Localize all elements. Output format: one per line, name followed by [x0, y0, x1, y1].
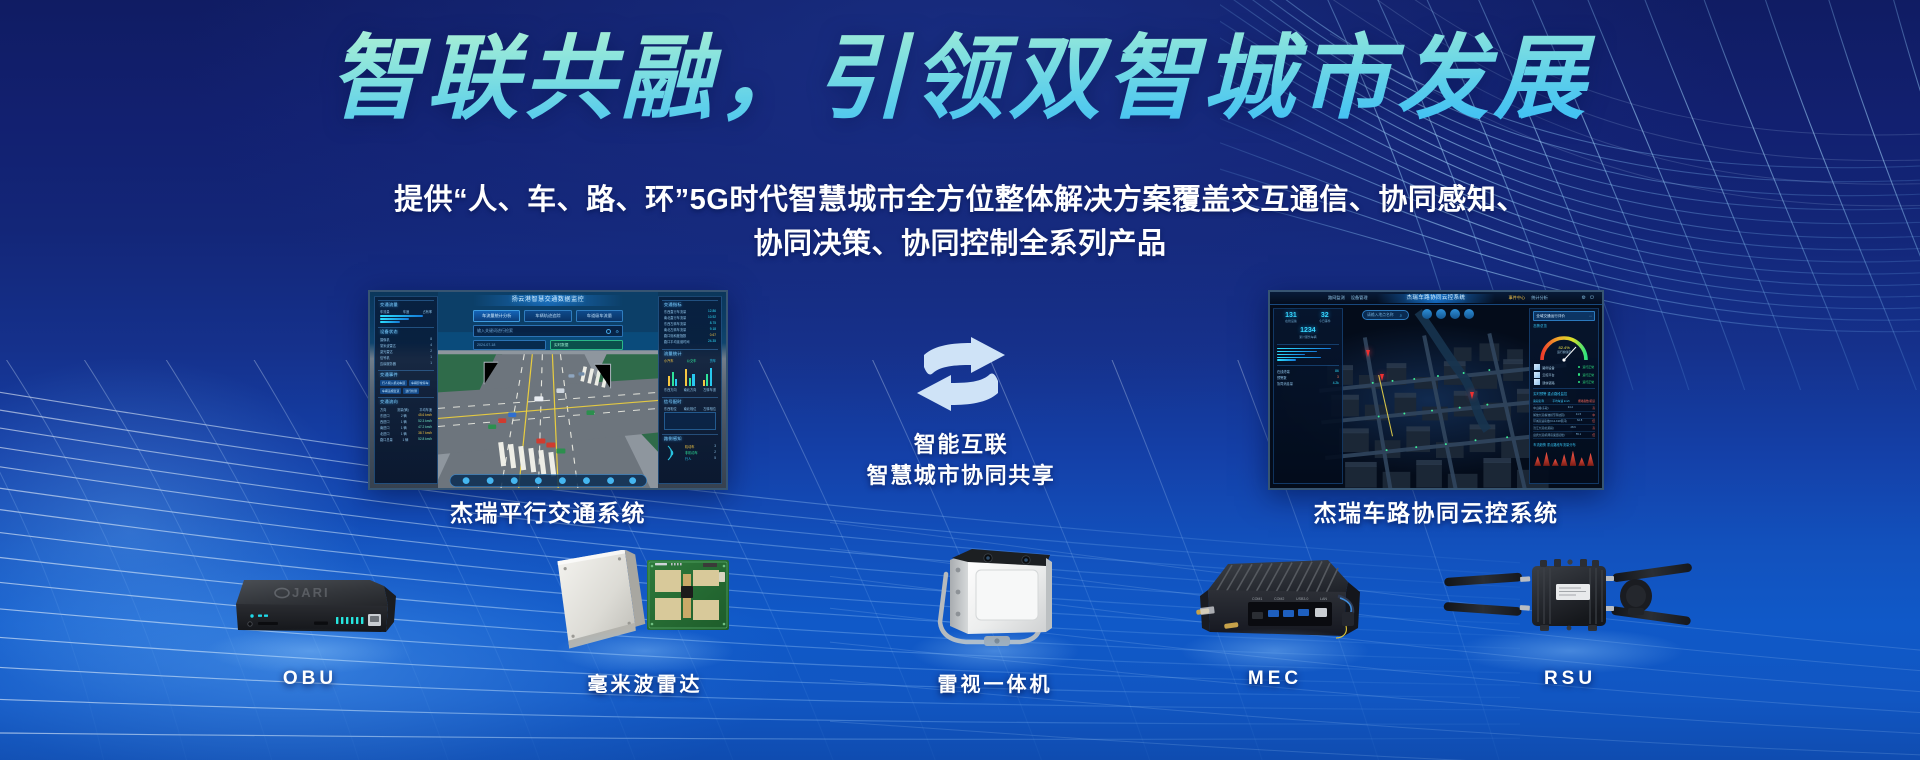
legend-item: 非机动车 [685, 450, 698, 455]
table-row: 路口总量 1 辆 52.8 km/h [380, 437, 432, 442]
map-pin[interactable] [1366, 350, 1370, 357]
radar-vision-camera-icon [870, 556, 1120, 668]
road-icon[interactable] [1450, 309, 1460, 319]
bar-group [685, 366, 694, 386]
legend-item: 行人 [685, 456, 691, 461]
cloud-panel-header: 全域交通运行评价 ⋯ [1533, 311, 1595, 321]
map-pin[interactable] [1380, 374, 1384, 381]
filter-icon[interactable]: ⚙ [615, 329, 619, 334]
cell-flow: 1 辆 [401, 425, 407, 430]
bar [380, 318, 409, 320]
svg-text:USB3.0: USB3.0 [1296, 597, 1308, 601]
gear-icon[interactable]: ⚙ [1582, 295, 1586, 301]
legend-item: 南北相位 [684, 406, 697, 411]
device-row: 激光雷达 2 [380, 349, 432, 354]
alert-table: 路段名称 平均车速 km/h 拥堵指数/延误 中山路(东段) 34.2 高 解放… [1533, 398, 1595, 439]
cloud-right-column: 全域交通运行评价 ⋯ 态势总览 [1529, 308, 1599, 484]
status-state: 运行正常 [1582, 373, 1594, 377]
product-label: 雷视一体机 [870, 668, 1120, 697]
exchange-line-1: 智能互联 [841, 429, 1081, 460]
metric-row: 路口饱和度指数 0.67 [664, 333, 716, 338]
table-row: 南进口 1 辆 47.2 km/h [380, 425, 432, 430]
mmwave-radar-icon [530, 556, 760, 668]
product-label: OBU [200, 668, 420, 690]
device-value: 8 [430, 337, 432, 342]
table-header: 路段名称 平均车速 km/h 拥堵指数/延误 [1533, 398, 1595, 405]
map-pin[interactable] [1470, 392, 1474, 399]
legend-item: 小汽车 [664, 358, 674, 363]
person-icon[interactable] [1422, 309, 1432, 319]
kpi-item: 1234 累计服务车辆 [1299, 327, 1316, 339]
metric-value: 9.18 [710, 327, 716, 332]
table-row: 滨江大道(北延段) 28.6 高 [1533, 425, 1595, 432]
bar-group [703, 366, 712, 386]
cell-index: 低 [1592, 433, 1595, 437]
legend-row: 车流量 车速 占有率 [380, 309, 432, 314]
device-label: 激光雷达 [380, 349, 393, 354]
cell-index: 低 [1592, 419, 1595, 423]
legend-item: 货车 [710, 358, 716, 363]
metric-label: 东西左转车流量 [664, 321, 686, 326]
more-icon[interactable]: ⋯ [1589, 314, 1592, 318]
table-row: 东进口 2 辆 45.6 km/h [380, 413, 432, 418]
panel-title: 全域交通运行评价 [1536, 314, 1565, 319]
cell-speed: 28.6 [1570, 426, 1575, 430]
screenshot-cloud-control-system[interactable]: 杰瑞车路协同云控系统 路网监测 设备管理 事件中心 统计分析 ⚙ ⏻ 请输入地点… [1268, 290, 1604, 490]
dashboard-parallel-traffic: 扬云港智慧交通数据监控 车流量统计分析 车辆轨迹追踪 车道级车流量 输入关键词进… [370, 292, 726, 488]
subtitle-line-1: 提供“人、车、路、环”5G时代智慧城市全方位整体解决方案覆盖交互通信、协同感知、 [250, 178, 1670, 222]
device-row: 边缘服务器 1 [380, 361, 432, 366]
svg-text:COM1: COM1 [1252, 597, 1262, 601]
cell-road: 滨江大道(北延段) [1533, 426, 1554, 430]
table-row: 解放大道(解放桥至科技园) 41.5 中 [1533, 412, 1595, 419]
legend-row: 小汽车 公交车 货车 [664, 358, 716, 363]
card-title: 交通流量 [380, 302, 432, 308]
kpi-value: 1234 [1299, 327, 1316, 334]
col-header: 平均车速 km/h [1552, 399, 1569, 403]
table-row: 迎宾大道(机场高速连接线) 55.1 低 [1533, 432, 1595, 439]
status-dot [1578, 366, 1580, 368]
dashboard-search-input[interactable]: 输入关键词进行检索 [477, 328, 602, 334]
kpi-item: 32 今日事件 [1319, 312, 1331, 324]
cell-speed: 52.8 km/h [418, 437, 432, 442]
metric-label: 路口饱和度指数 [664, 333, 686, 338]
status-dot [1578, 381, 1580, 383]
dashboard-realtime-toggle[interactable]: 实时数据 [550, 340, 623, 350]
product-mec[interactable]: COM1COM2 USB3.0LAN [1160, 556, 1390, 690]
product-obu[interactable]: JARI [200, 556, 420, 690]
metric-value: 12.86 [708, 309, 716, 314]
chart-title: 车流趋势 重点路段车流量分布 [1533, 442, 1595, 447]
health-gauge: 82.4% 运行健康度 [1536, 332, 1592, 362]
metric-label: 路口平均延误时间 [664, 339, 690, 344]
svg-text:COM2: COM2 [1274, 597, 1284, 601]
nav-item[interactable]: 事件中心 [1508, 295, 1525, 301]
legend-item: 左转相位 [703, 406, 716, 411]
caption-parallel-traffic-system: 杰瑞平行交通系统 [338, 494, 758, 528]
card-title: 交通指标 [664, 302, 716, 308]
screenshot-parallel-traffic-system[interactable]: 扬云港智慧交通数据监控 车流量统计分析 车辆轨迹追踪 车道级车流量 输入关键词进… [368, 290, 728, 490]
metric-label: 南北直行车流量 [664, 315, 686, 320]
cell-index: 中 [1592, 413, 1595, 417]
metric-value: 0.67 [710, 333, 716, 338]
svg-text:JARI: JARI [292, 585, 330, 600]
dashboard-tab-2[interactable]: 车道级车流量 [576, 310, 623, 322]
kpi-label: 在线设备 [1285, 319, 1297, 323]
kpi-item: 131 在线设备 [1285, 312, 1297, 324]
metric-row: 东西直行车流量 12.86 [664, 309, 716, 314]
map-search-row[interactable]: 请输入地点名称 ⌕ [1362, 310, 1402, 320]
nav-item[interactable]: 设备管理 [1351, 295, 1368, 301]
device-row: 毫米波雷达 4 [380, 343, 432, 348]
bar [380, 315, 423, 317]
cell-index: 高 [1592, 426, 1595, 430]
cell-dir: 北进口 [380, 431, 390, 436]
metric-value: 8.75 [710, 321, 716, 326]
device-icon[interactable] [1464, 309, 1474, 319]
banner-stage: 智联共融，引领双智城市发展 提供“人、车、路、环”5G时代智慧城市全方位整体解决… [0, 0, 1920, 760]
product-rsu[interactable]: RSU [1440, 556, 1700, 690]
cell-flow: 1 辆 [401, 431, 407, 436]
device-value: 1 [430, 355, 432, 360]
legend-item: 占有率 [423, 309, 433, 314]
cell-speed: 41.5 [1576, 413, 1581, 417]
cell-speed: 62.8 [1577, 419, 1582, 423]
kpi-label: 今日事件 [1319, 319, 1331, 323]
event-chip[interactable]: 车辆异常停车 [409, 380, 430, 386]
flow-spike-chart [1534, 450, 1594, 466]
kpi-value: 131 [1285, 312, 1297, 319]
cell-road: 迎宾大道(机场高速连接线) [1533, 433, 1564, 437]
card-title: 交通事件 [380, 372, 432, 378]
map-quick-icons [1422, 309, 1474, 319]
product-label: RSU [1440, 668, 1700, 690]
status-dot [1578, 373, 1580, 375]
event-chip[interactable]: 车辆违规变道 [380, 388, 401, 394]
card-traffic-metrics: 交通指标 东西直行车流量 12.86 南北直行车流量 10.92 东西左转车流量… [662, 300, 718, 347]
kpi-row-2: 1234 累计服务车辆 [1274, 325, 1342, 341]
cell-speed: 52.3 km/h [418, 419, 432, 424]
exchange-line-2: 智慧城市协同共享 [841, 460, 1081, 491]
city-nav-right: 事件中心 统计分析 [1508, 295, 1548, 301]
cell-speed: 47.2 km/h [418, 425, 432, 430]
device-row: 摄像机 8 [380, 337, 432, 342]
status-state: 运行正常 [1582, 380, 1594, 384]
city-nav-left: 路网监测 设备管理 [1328, 295, 1368, 301]
card-traffic-events: 交通事件 行人闯入机动车道 车辆异常停车 车辆违规变道 逆行检测 [378, 370, 434, 395]
exchange-text: 智能互联 智慧城市协同共享 [841, 429, 1081, 491]
cell-road: 中山路(东段) [1533, 406, 1548, 410]
bidirectional-exchange-arrows-icon [913, 333, 1009, 419]
dashboard-right-column: 交通指标 东西直行车流量 12.86 南北直行车流量 10.92 东西左转车流量… [658, 296, 722, 484]
card-title: 流量统计 [664, 351, 716, 357]
cell-road: 环城高速南线(K12-K18区间) [1533, 419, 1567, 423]
table-row: 环城高速南线(K12-K18区间) 62.8 低 [1533, 419, 1595, 426]
card-traffic-direction: 交通流向 方向 流量(辆) 平均车速 东进口 2 辆 45.6 km/h 西进口… [378, 397, 434, 444]
metric-row: 路口平均延误时间 24.35 [664, 339, 716, 344]
legend-item: 公交车 [687, 358, 697, 363]
table-row: 中山路(东段) 34.2 高 [1533, 405, 1595, 412]
cell-flow: 1 辆 [401, 419, 407, 424]
metric-row: 南北直行车流量 10.92 [664, 315, 716, 320]
card-title: 设备状态 [380, 329, 432, 335]
kpi-value: 32 [1319, 312, 1331, 319]
device-label: 信号机 [380, 355, 390, 360]
cube-icon [1534, 372, 1540, 378]
metric-label: 东西直行车流量 [664, 309, 686, 314]
status-name: 云控平台 [1542, 372, 1576, 377]
city-top-icons: ⚙ ⏻ [1582, 295, 1594, 301]
rsu-antenna-icon [1440, 556, 1700, 668]
dashboard-control-bar: 车流量统计分析 车辆轨迹追踪 车道级车流量 输入关键词进行检索 ⚙ 2024-0… [473, 310, 623, 350]
device-label: 边缘服务器 [380, 361, 396, 366]
card-title: 路侧感知 [664, 436, 716, 442]
kpi-row: 131 在线设备 32 今日事件 [1274, 309, 1342, 325]
device-row: 信号机 1 [380, 355, 432, 360]
status-name: 路侧设备 [1542, 365, 1576, 370]
table-row: 西进口 1 辆 52.3 km/h [380, 419, 432, 424]
legend-item: 车速 [403, 309, 409, 314]
legend-item: 机动车 [685, 444, 695, 449]
status-state: 运行正常 [1582, 365, 1594, 369]
caption-cloud-control-system: 杰瑞车路协同云控系统 [1226, 494, 1646, 528]
metric-row: 东西左转车流量 8.75 [664, 321, 716, 326]
cell-dir: 南进口 [380, 425, 390, 430]
bar [380, 321, 400, 323]
col-header: 平均车速 [419, 407, 432, 412]
card-title: 信号配时 [664, 399, 716, 405]
status-item: 通信链路 运行正常 [1534, 379, 1594, 385]
search-icon[interactable]: ⌕ [1400, 313, 1402, 318]
col-header: 流量(辆) [397, 407, 409, 412]
dashboard-tab-0[interactable]: 车流量统计分析 [473, 310, 520, 322]
subtitle-line-2: 协同决策、协同控制全系列产品 [250, 222, 1670, 266]
bar-group [668, 366, 677, 386]
device-value: 1 [430, 361, 432, 366]
card-title: 交通流向 [380, 399, 432, 405]
status-item: 路侧设备 运行正常 [1534, 364, 1594, 370]
event-chip[interactable]: 行人闯入机动车道 [380, 380, 407, 386]
metric-label: 南北左转车流量 [664, 327, 686, 332]
cell-speed: 34.2 [1568, 406, 1573, 410]
product-row: JARI [0, 556, 1920, 736]
dashboard-left-column: 交通流量 车流量 车速 占有率 设备状态 摄像机 8 [374, 296, 438, 484]
nav-item[interactable]: 路网监测 [1328, 295, 1345, 301]
cell-speed: 45.6 km/h [418, 413, 432, 418]
page-title: 智联共融，引领双智城市发展 [0, 28, 1920, 131]
section-title: 态势总览 [1533, 323, 1595, 328]
cell-dir: 东进口 [380, 413, 390, 418]
group-label: 左转车道 [703, 387, 716, 392]
dashboard-screen-title: 扬云港智慧交通数据监控 [473, 295, 623, 306]
metric-row: 南北左转车流量 9.18 [664, 327, 716, 332]
event-chip[interactable]: 逆行检测 [403, 388, 419, 394]
dashboard-search-row[interactable]: 输入关键词进行检索 ⚙ [473, 325, 623, 337]
cell-dir: 路口总量 [380, 437, 393, 442]
dashboard-cloud-control: 杰瑞车路协同云控系统 路网监测 设备管理 事件中心 统计分析 ⚙ ⏻ 请输入地点… [1270, 292, 1602, 488]
device-label: 摄像机 [380, 337, 390, 342]
cloud-control-screen-title: 杰瑞车路协同云控系统 [1377, 294, 1495, 303]
status-list: 路侧设备 运行正常 云控平台 运行正常 通信链路 运行正常 [1534, 364, 1594, 385]
svg-text:LAN: LAN [1320, 597, 1327, 601]
mec-server-icon: COM1COM2 USB3.0LAN [1160, 556, 1390, 668]
legend-row: 东西相位 南北相位 左转相位 [664, 406, 716, 411]
page-subtitle: 提供“人、车、路、环”5G时代智慧城市全方位整体解决方案覆盖交互通信、协同感知、… [250, 178, 1670, 266]
cube-icon [1534, 364, 1540, 370]
group-label: 南北方向 [684, 387, 697, 392]
cell-speed: 38.7 km/h [418, 431, 432, 436]
signal-timing-chart [664, 412, 716, 430]
card-flow-statistics: 流量统计 小汽车 公交车 货车 [662, 349, 718, 395]
product-mmwave-radar[interactable]: 毫米波雷达 [530, 556, 760, 697]
dashboard-date-field[interactable]: 2024-07-18 [473, 340, 546, 350]
col-header: 路段名称 [1533, 399, 1544, 403]
status-name: 通信链路 [1542, 380, 1576, 385]
card-device-status: 设备状态 摄像机 8 毫米波雷达 4 激光雷达 2 信号机 [378, 327, 434, 368]
status-item: 云控平台 运行正常 [1534, 372, 1594, 378]
exchange-block: 智能互联 智慧城市协同共享 [841, 333, 1081, 491]
metric-value: 24.35 [708, 339, 716, 344]
gauge-label: 运行健康度 [1536, 350, 1592, 354]
cell-flow: 1 辆 [402, 437, 408, 442]
legend-item: 东西相位 [664, 406, 677, 411]
device-label: 毫米波雷达 [380, 343, 396, 348]
cell-dir: 西进口 [380, 419, 390, 424]
device-value: 2 [430, 349, 432, 354]
table-row: 北进口 1 辆 38.7 km/h [380, 431, 432, 436]
dashboard-tab-1[interactable]: 车辆轨迹追踪 [524, 310, 571, 322]
group-labels: 东西方向 南北方向 左转车道 [664, 387, 716, 392]
cell-index: 高 [1592, 406, 1595, 410]
cloud-left-column: 131 在线设备 32 今日事件 1234 累计服务车辆 [1273, 308, 1343, 484]
nav-item[interactable]: 统计分析 [1531, 295, 1548, 301]
obu-device-icon: JARI [200, 556, 420, 668]
vehicle-icon[interactable] [1436, 309, 1446, 319]
metric-value: 10.92 [708, 315, 716, 320]
card-signal-timing: 信号配时 东西相位 南北相位 左转相位 [662, 397, 718, 432]
device-value: 4 [430, 343, 432, 348]
cell-flow: 2 辆 [401, 413, 407, 418]
search-icon[interactable] [606, 329, 611, 334]
cloud-stats-bars [1277, 344, 1339, 361]
legend-item: 车流量 [380, 309, 390, 314]
card-traffic-flow: 交通流量 车流量 车速 占有率 [378, 300, 434, 325]
cell-road: 解放大道(解放桥至科技园) [1533, 413, 1564, 417]
cube-icon [1534, 379, 1540, 385]
table-title: 实时预警 重点路段监控 [1533, 388, 1595, 396]
card-roadside-perception: 路侧感知 机动车3 非机动车2 行人5 [662, 434, 718, 464]
group-label: 东西方向 [664, 387, 677, 392]
kpi-label: 累计服务车辆 [1299, 335, 1316, 339]
product-label: 毫米波雷达 [530, 668, 760, 697]
radar-wave-icon [664, 444, 682, 462]
power-icon[interactable]: ⏻ [1590, 295, 1594, 301]
table-header: 方向 流量(辆) 平均车速 [380, 407, 432, 412]
cloud-mini-list: 在线终端86 预警数3 协同消息量4.2k [1277, 365, 1339, 386]
product-label: MEC [1160, 668, 1390, 690]
col-header: 拥堵指数/延误 [1578, 399, 1595, 403]
cell-speed: 55.1 [1576, 433, 1581, 437]
col-header: 方向 [380, 407, 386, 412]
product-radar-vision-camera[interactable]: 雷视一体机 [870, 556, 1120, 697]
